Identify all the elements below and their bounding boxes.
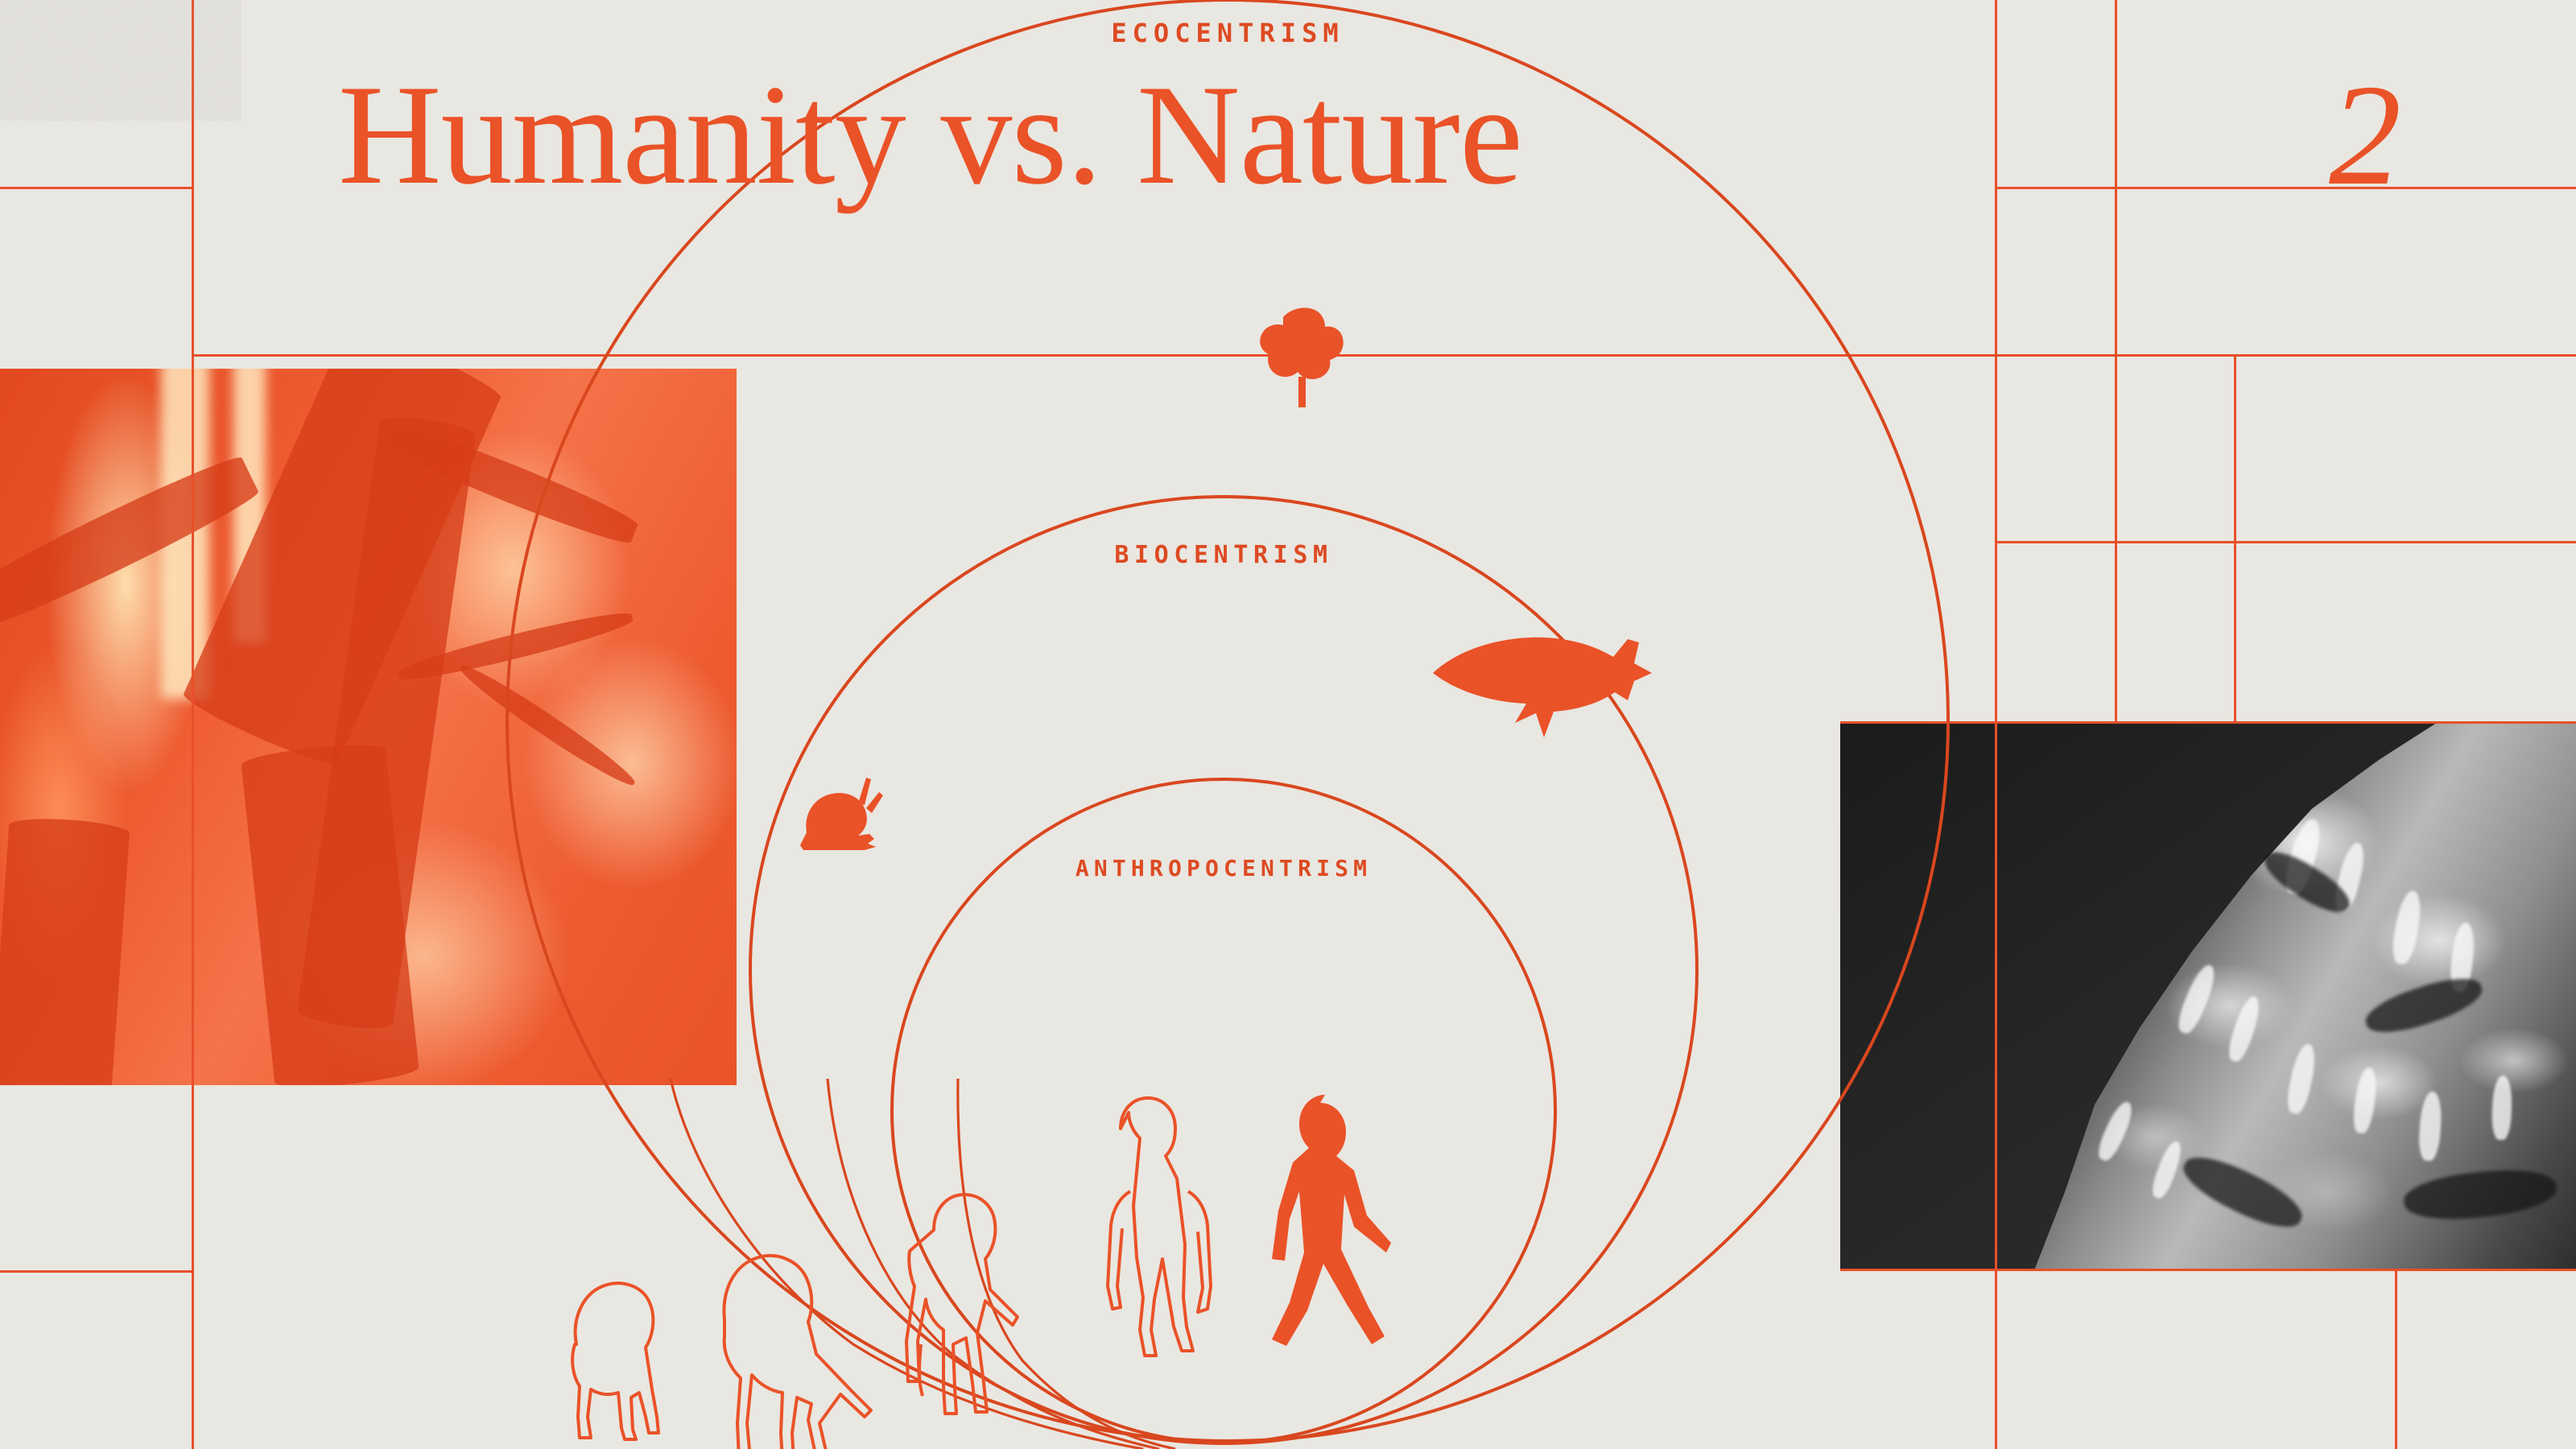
evolution-figure-early-hominid — [724, 1256, 871, 1449]
snail-icon — [799, 776, 889, 850]
grid-line-horizontal — [1995, 541, 2576, 543]
page-number: 2 — [2329, 63, 2401, 208]
whale-icon — [1426, 625, 1676, 745]
cave-photo — [1840, 721, 2576, 1269]
poster-canvas: ECOCENTRISM BIOCENTRISM ANTHROPOCENTRISM — [0, 0, 2576, 1449]
grid-line-vertical — [2395, 1269, 2397, 1449]
grid-line-horizontal — [0, 187, 193, 189]
evolution-figure-archaic-human — [1108, 1098, 1211, 1356]
grid-line-vertical — [2115, 0, 2117, 721]
ring-label-biocentrism: BIOCENTRISM — [1114, 541, 1332, 569]
evolution-sequence — [499, 1079, 1401, 1449]
ring-label-anthropocentrism: ANTHROPOCENTRISM — [1075, 855, 1372, 881]
grid-line-horizontal — [1995, 187, 2576, 189]
paper-grain-overlay-light — [0, 0, 242, 121]
page-title: Humanity vs. Nature — [338, 63, 1522, 206]
evolution-figure-modern-human — [1272, 1095, 1391, 1346]
grid-line-vertical — [1995, 0, 1997, 1449]
grid-line-vertical — [192, 0, 194, 1449]
grid-line-horizontal — [0, 1270, 193, 1273]
forest-photo — [0, 369, 737, 1085]
tree-icon — [1253, 304, 1352, 407]
grid-line-horizontal — [1840, 1269, 2576, 1271]
grid-line-vertical — [2234, 354, 2236, 721]
paper-grain-overlay — [0, 0, 242, 121]
grid-line-horizontal — [1840, 721, 2576, 724]
evolution-figure-ape — [572, 1283, 658, 1439]
ring-label-ecocentrism: ECOCENTRISM — [1111, 18, 1344, 48]
grid-line-horizontal — [192, 354, 2576, 357]
